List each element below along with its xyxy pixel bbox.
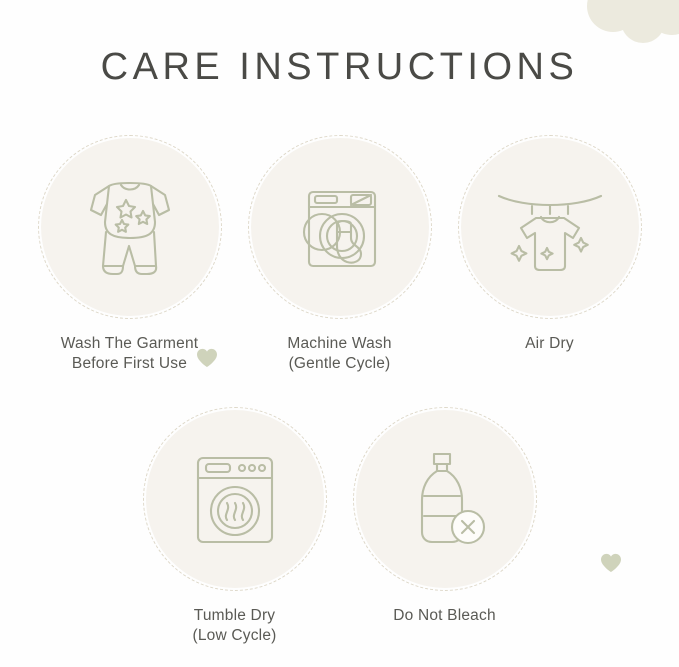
care-item-air-dry: Air Dry [455,138,645,374]
icon-circle [461,138,639,316]
care-instructions-page: CARE INSTRUCTIONS [0,0,679,667]
clothesline-tshirt-icon [485,162,615,292]
heart-icon [196,348,218,368]
icon-circle [251,138,429,316]
care-item-do-not-bleach: Do Not Bleach [350,410,540,646]
care-items-row-1: Wash The Garment Before First Use [0,138,679,374]
page-title: CARE INSTRUCTIONS [0,46,679,89]
care-item-wash-before-first-use: Wash The Garment Before First Use [35,138,225,374]
care-items-row-2: Tumble Dry (Low Cycle) [0,410,679,646]
washing-machine-icon [275,162,405,292]
no-bleach-bottle-icon [380,434,510,564]
baby-outfit-icon [65,162,195,292]
care-item-caption: Tumble Dry (Low Cycle) [192,606,276,646]
care-item-caption: Machine Wash (Gentle Cycle) [287,334,391,374]
icon-circle [41,138,219,316]
care-item-tumble-dry: Tumble Dry (Low Cycle) [140,410,330,646]
icon-circle [356,410,534,588]
icon-circle [146,410,324,588]
care-item-caption: Wash The Garment Before First Use [61,334,199,374]
care-item-caption: Air Dry [525,334,574,354]
care-item-caption: Do Not Bleach [393,606,496,626]
care-item-machine-wash: Machine Wash (Gentle Cycle) [245,138,435,374]
tumble-dryer-icon [170,434,300,564]
heart-icon [600,553,622,573]
